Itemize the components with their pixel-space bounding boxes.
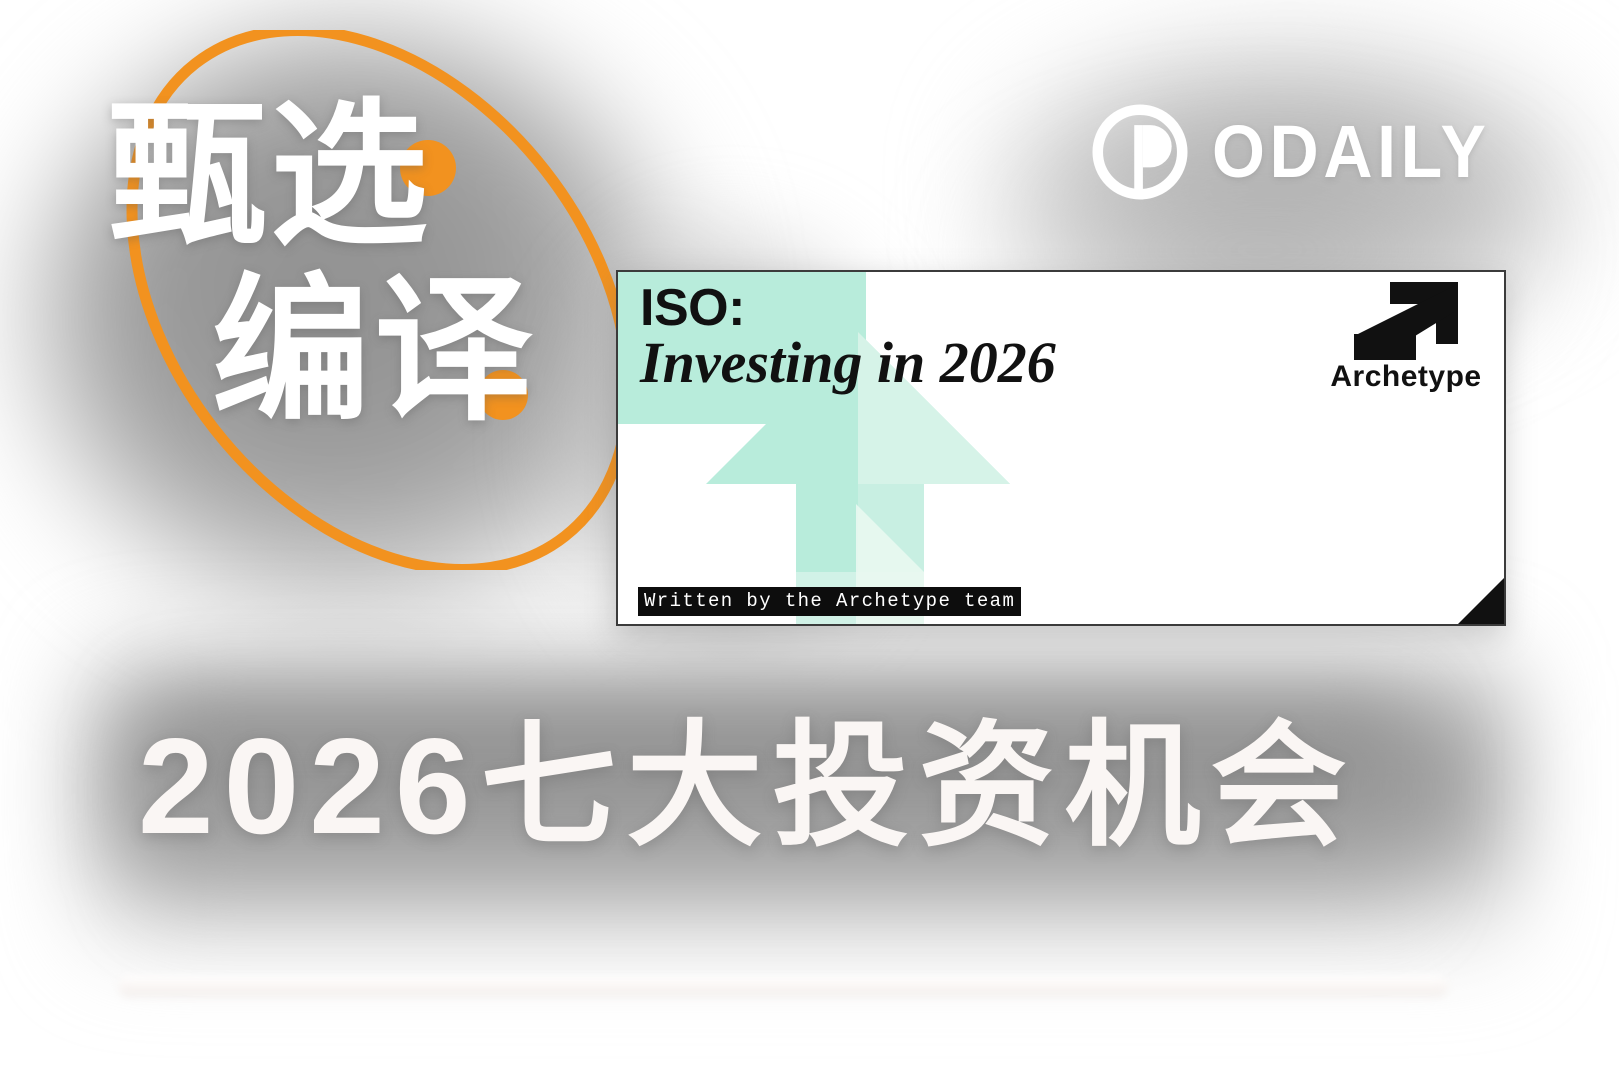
archetype-logo: Archetype	[1322, 282, 1490, 392]
odaily-wordmark: ODAILY	[1212, 115, 1491, 189]
card-title: ISO: Investing in 2026	[640, 282, 1056, 394]
corner-triangle-icon	[1458, 578, 1504, 624]
kicker-block: 甄选 编译	[108, 96, 668, 432]
card-title-line-2: Investing in 2026	[640, 333, 1056, 394]
card-byline: Written by the Archetype team	[638, 587, 1021, 616]
kicker-line-2: 编译	[108, 271, 668, 432]
odaily-circle-p-icon	[1092, 104, 1188, 200]
up-right-arrow-icon	[1322, 282, 1490, 360]
odaily-logo: ODAILY	[1092, 104, 1515, 200]
highlight-bar-icon	[118, 975, 1448, 997]
kicker-line-1: 甄选	[108, 96, 668, 257]
poster-canvas: 甄选 编译 ODAILY	[0, 0, 1619, 1079]
archetype-wordmark: Archetype	[1322, 362, 1490, 392]
card-title-line-1: ISO:	[640, 282, 1056, 335]
archetype-cover-card: ISO: Investing in 2026 Archetype Written…	[616, 270, 1506, 626]
page-headline: 2026七大投资机会	[138, 718, 1357, 854]
